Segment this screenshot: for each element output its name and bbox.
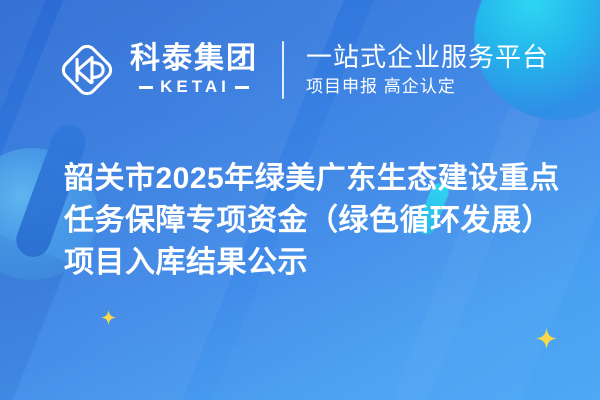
brand-logo[interactable]: 科泰集团 KETAI bbox=[56, 39, 258, 101]
brand-name-en: KETAI bbox=[160, 77, 230, 97]
header-divider bbox=[282, 41, 284, 99]
ketai-diamond-kt-logo-icon bbox=[56, 39, 118, 101]
tagline-primary: 一站式企业服务平台 bbox=[306, 42, 549, 73]
sparkle-star-icon bbox=[101, 310, 116, 325]
brand-name-en-row: KETAI bbox=[130, 77, 258, 97]
dash-left-icon bbox=[139, 86, 153, 89]
dash-right-icon bbox=[235, 86, 249, 89]
sparkle-star-icon bbox=[536, 328, 557, 349]
tagline-secondary: 项目申报 高企认定 bbox=[306, 76, 549, 98]
tagline-block: 一站式企业服务平台 项目申报 高企认定 bbox=[306, 42, 549, 99]
dark-diagonal-stripe bbox=[0, 150, 68, 400]
promo-banner: 科泰集团 KETAI 一站式企业服务平台 项目申报 高企认定 韶关市2025年绿… bbox=[0, 0, 600, 400]
page-title: 韶关市2025年绿美广东生态建设重点任务保障专项资金（绿色循环发展）项目入库结果… bbox=[64, 158, 574, 284]
brand-name-cn: 科泰集团 bbox=[130, 43, 258, 75]
banner-header: 科泰集团 KETAI 一站式企业服务平台 项目申报 高企认定 bbox=[0, 0, 600, 140]
brand-wordmark: 科泰集团 KETAI bbox=[130, 43, 258, 98]
